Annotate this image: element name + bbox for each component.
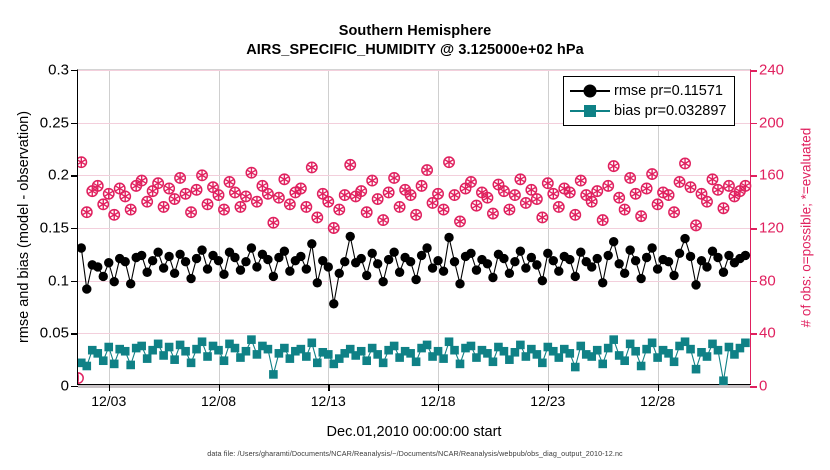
legend-label: rmse pr=0.11571 — [614, 83, 723, 99]
x-axis-tick — [328, 384, 329, 391]
y-axis-left-tick-label: 0.25 — [40, 114, 69, 131]
y-axis-left-tick-label: 0 — [61, 378, 69, 395]
y-axis-left-tick — [71, 228, 78, 229]
y-axis-left-tick-label: 0.2 — [48, 167, 69, 184]
x-axis-title: Dec.01,2010 00:00:00 start — [77, 424, 751, 440]
legend-marker-circle-icon — [570, 83, 610, 99]
x-axis-tick-label: 12/08 — [201, 393, 236, 409]
y-axis-right-tick — [750, 123, 757, 125]
y-axis-left-tick — [71, 175, 78, 176]
y-axis-right-tick — [750, 70, 757, 72]
data-file-note: data file: /Users/gharamti/Documents/NCA… — [0, 449, 830, 458]
x-axis-tick — [548, 384, 549, 391]
y-axis-left-title-text: rmse and bias (model - observation) — [16, 111, 32, 343]
legend-marker-square-icon — [570, 103, 610, 119]
series-rmse — [78, 232, 750, 309]
y-axis-right-tick-label: 0 — [759, 378, 767, 395]
y-axis-left-title: rmse and bias (model - observation) — [14, 69, 34, 385]
y-axis-right-tick-label: 120 — [759, 220, 784, 237]
x-axis-tick-label: 12/23 — [530, 393, 565, 409]
y-axis-right-tick — [750, 281, 757, 283]
y-axis-right-tick-label: 160 — [759, 167, 784, 184]
title-line-2: AIRS_SPECIFIC_HUMIDITY @ 3.125000e+02 hP… — [0, 41, 830, 60]
legend: rmse pr=0.11571bias pr=0.032897 — [563, 76, 735, 126]
y-axis-left-tick — [71, 333, 78, 334]
y-axis-right-tick-label: 240 — [759, 62, 784, 79]
y-axis-left-tick — [71, 281, 78, 282]
x-axis-tick-label: 12/18 — [421, 393, 456, 409]
y-axis-left-tick — [71, 386, 78, 387]
x-axis-tick-label: 12/03 — [91, 393, 126, 409]
y-axis-left-tick — [71, 123, 78, 124]
y-axis-right-tick — [750, 228, 757, 230]
x-axis-tick-label: 12/13 — [311, 393, 346, 409]
x-axis-tick — [658, 384, 659, 391]
y-axis-right-tick — [750, 175, 757, 177]
y-axis-right-tick-label: 40 — [759, 325, 776, 342]
y-axis-right-tick-label: 200 — [759, 114, 784, 131]
y-axis-right-tick-label: 80 — [759, 272, 776, 289]
y-axis-right-tick — [750, 386, 757, 388]
x-axis-tick — [219, 384, 220, 391]
legend-label: bias pr=0.032897 — [614, 103, 726, 119]
x-axis-tick-label: 12/28 — [640, 393, 675, 409]
legend-item: rmse pr=0.11571 — [570, 81, 726, 101]
x-axis-tick — [438, 384, 439, 391]
y-axis-left-tick-label: 0.15 — [40, 220, 69, 237]
y-axis-right-tick — [750, 333, 757, 335]
series-bias — [78, 335, 750, 385]
y-axis-left-tick — [71, 70, 78, 71]
y-axis-right-title: # of obs: o=possible; *=evaluated — [796, 69, 816, 385]
y-axis-left-tick-label: 0.05 — [40, 325, 69, 342]
y-axis-left-tick-label: 0.3 — [48, 62, 69, 79]
x-axis-tick — [109, 384, 110, 391]
legend-item: bias pr=0.032897 — [570, 101, 726, 121]
y-axis-left-tick-label: 0.1 — [48, 272, 69, 289]
title-line-1: Southern Hemisphere — [0, 22, 830, 41]
y-axis-right-title-text: # of obs: o=possible; *=evaluated — [799, 127, 814, 327]
chart-title: Southern Hemisphere AIRS_SPECIFIC_HUMIDI… — [0, 22, 830, 60]
